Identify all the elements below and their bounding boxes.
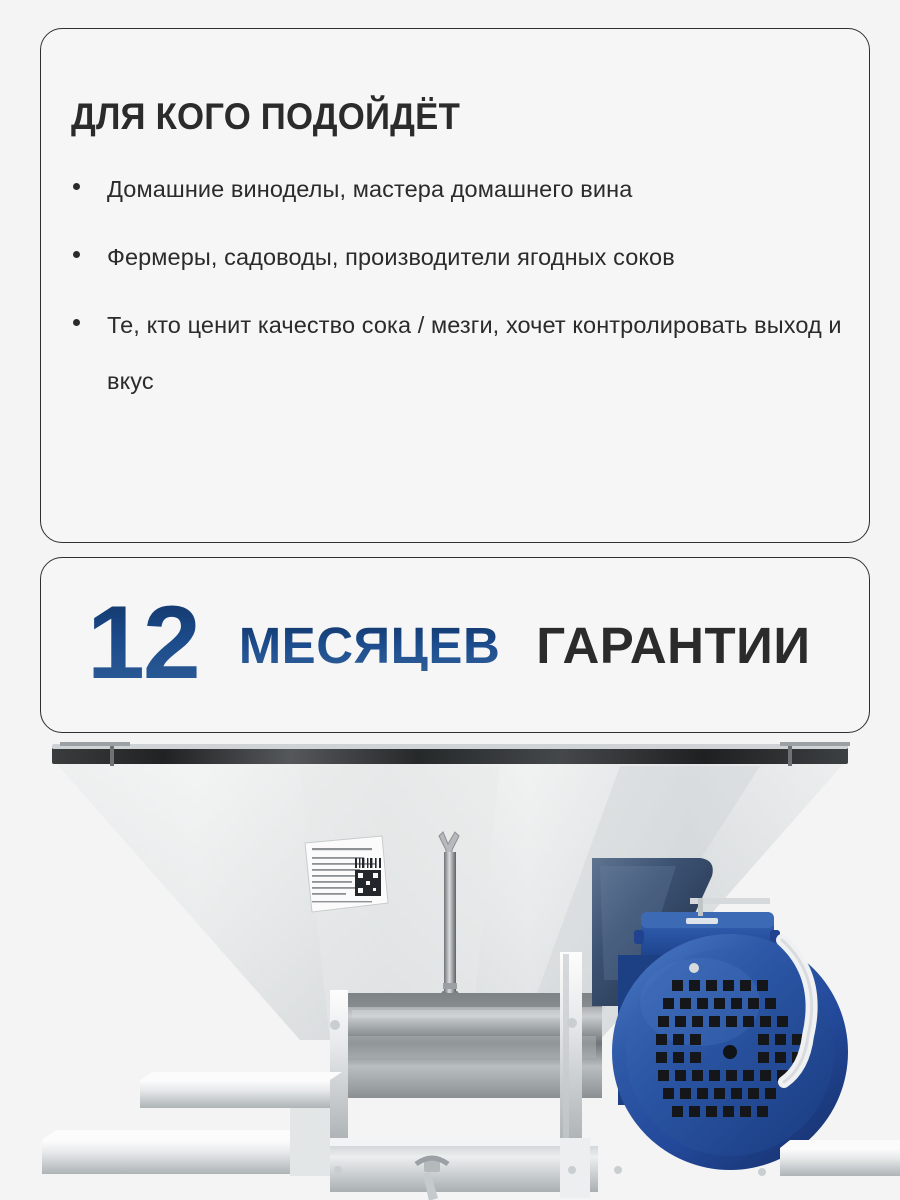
list-item: Домашние виноделы, мастера домашнего вин… [69, 161, 843, 217]
support-post-left [330, 990, 348, 1140]
bullet-dot-icon [73, 251, 80, 258]
hopper-top-rim [52, 747, 848, 764]
warranty-number: 12 [87, 591, 199, 695]
list-item-label: Те, кто ценит качество сока / мезги, хоч… [107, 312, 842, 394]
bullet-dot-icon [73, 183, 80, 190]
product-photo-illustration [0, 740, 900, 1200]
product-infographic-page: ДЛЯ КОГО ПОДОЙДЁТ Домашние виноделы, мас… [0, 0, 900, 1200]
product-label-sticker [305, 836, 388, 912]
crusher-housing-band [346, 1036, 596, 1058]
list-item: Фермеры, садоводы, производители ягодных… [69, 229, 843, 285]
outlet-tray [330, 1138, 598, 1192]
product-photo-group [0, 740, 900, 1200]
qr-code-icon [355, 870, 381, 896]
motor-bolt [689, 963, 699, 973]
motor-bracket-bolt [698, 898, 703, 916]
frame-leg-left [290, 1108, 330, 1176]
frame-rail-back-top [140, 1072, 342, 1080]
frame-rail-back [140, 1080, 330, 1108]
rim-joint-right [788, 746, 792, 766]
outlet-tray-lip [330, 1138, 598, 1146]
frame-rail-right [780, 1148, 900, 1176]
rim-right-cap [780, 742, 850, 746]
audience-bullet-list: Домашние виноделы, мастера домашнего вин… [69, 161, 843, 421]
rim-left-cap [60, 742, 130, 746]
warranty-card: 12 МЕСЯЦЕВ ГАРАНТИИ [40, 557, 870, 733]
rim-joint-left [110, 746, 114, 766]
crusher-housing-reflection [352, 1010, 572, 1018]
support-post-right-shade [563, 954, 569, 1140]
page-title: ДЛЯ КОГО ПОДОЙДЁТ [71, 96, 460, 138]
list-item-label: Фермеры, садоводы, производители ягодных… [107, 244, 675, 270]
warranty-months-label: МЕСЯЦЕВ [239, 620, 501, 671]
fan-hub-icon [723, 1045, 737, 1059]
frame-rail-right-top [780, 1140, 900, 1148]
audience-card: ДЛЯ КОГО ПОДОЙДЁТ Домашние виноделы, мас… [40, 28, 870, 543]
list-item: Те, кто ценит качество сока / мезги, хоч… [69, 297, 843, 409]
electric-motor [612, 934, 848, 1170]
product-photo [0, 740, 900, 1200]
hopper-rim-edge [52, 744, 848, 749]
warranty-text-label: ГАРАНТИИ [536, 620, 810, 671]
bullet-dot-icon [73, 319, 80, 326]
list-item-label: Домашние виноделы, мастера домашнего вин… [107, 176, 632, 202]
frame-rail-front [42, 1140, 312, 1174]
frame-rail-front-top [42, 1130, 326, 1140]
